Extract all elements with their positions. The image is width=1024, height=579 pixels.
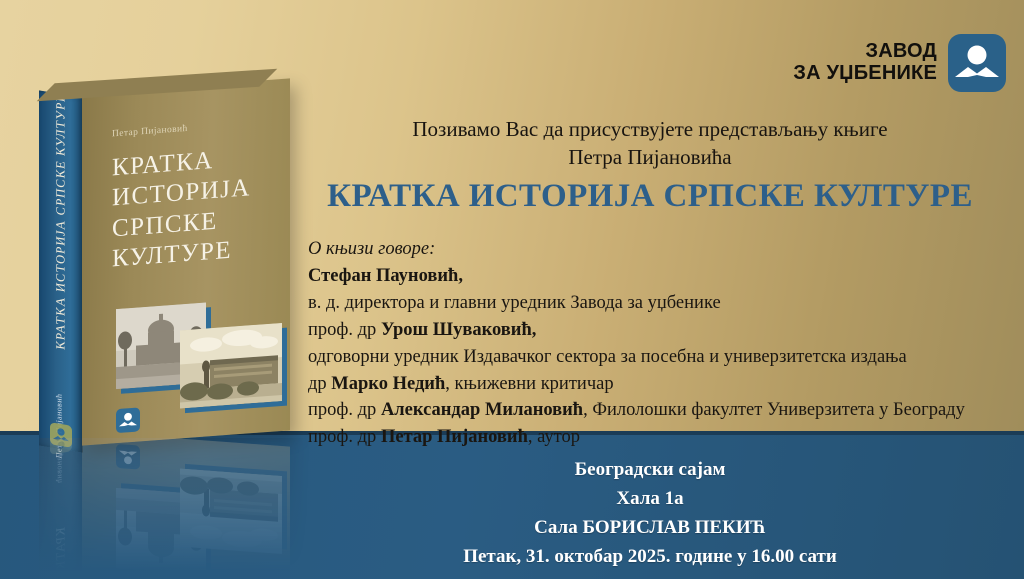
invitation-text: Позивамо Вас да присуствујете представља… [300,116,1000,172]
speaker-name-1: Стефан Пауновић, [308,266,463,286]
venue-line-3: Сала БОРИСЛАВ ПЕКИЋ [300,513,1000,542]
speaker-name-5: Марко Недић [331,374,445,394]
speaker-name-7: Петар Пијановић [381,427,528,447]
book-spine-title: КРАТКА ИСТОРИЈА СРПСКЕ КУЛТУРЕ [54,88,69,350]
book-spine-logo-icon [50,438,72,455]
venue-line-1: Београдски сајам [300,455,1000,484]
book-reflection: КРАТКА ИСТОРИЈА СРПСКЕ КУЛТУРЕ Петар Пиј… [20,438,320,579]
speaker-role-7: , аутор [528,427,580,447]
speaker-line-7: проф. др Петар Пијановић, аутор [308,424,998,451]
speaker-line-3: проф. др Урош Шуваковић, [308,317,998,344]
book-front-title: КРАТКА ИСТОРИЈА СРПСКЕ КУЛТУРЕ [112,143,251,274]
book-front-cover: Петар Пијановић КРАТКА ИСТОРИЈА СРПСКЕ К… [82,438,290,579]
speaker-line-1: Стефан Пауновић, [308,263,998,290]
book-front-author: Петар Пијановић [112,124,188,140]
book-front-logo-icon [116,444,140,470]
page-title: КРАТКА ИСТОРИЈА СРПСКЕ КУЛТУРЕ [300,178,1000,215]
venue-block: Београдски сајам Хала 1а Сала БОРИСЛАВ П… [300,455,1000,571]
speaker-line-4: одговорни уредник Издавачког сектора за … [308,344,998,371]
speaker-line-5: др Марко Недић, књижевни критичар [308,371,998,398]
speaker-name-3: Урош Шуваковић, [381,320,536,340]
national-building-photo [180,323,282,408]
book-front-cover: Петар Пијановић КРАТКА ИСТОРИЈА СРПСКЕ К… [82,78,290,445]
publisher-logo-text: ЗАВОД ЗА УЏБЕНИКЕ [793,41,937,84]
venue-line-2: Хала 1а [300,484,1000,513]
poster-canvas: ЗАВОД ЗА УЏБЕНИКЕ Позивамо Вас да присус… [0,0,1024,579]
publisher-logo: ЗАВОД ЗА УЏБЕНИКЕ [793,34,1006,92]
speakers-block: О књизи говоре: Стефан Пауновић, в. д. д… [308,236,998,451]
publisher-logo-line1: ЗАВОД [793,41,937,63]
invitation-line-2: Петра Пијановића [300,144,1000,172]
book-front-logo-icon [116,407,140,433]
publisher-logo-line2: ЗА УЏБЕНИКЕ [793,63,937,85]
book-spine: КРАТКА ИСТОРИЈА СРПСКЕ КУЛТУРЕ Петар Пиј… [39,90,83,452]
speaker-prefix-6: проф. др [308,400,381,420]
venue-line-4: Петак, 31. октобар 2025. године у 16.00 … [300,542,1000,571]
invitation-line-1: Позивамо Вас да присуствујете представља… [300,116,1000,144]
speaker-role-6: , Филолошки факултет Универзитета у Беог… [583,400,965,420]
speaker-prefix-5: др [308,374,331,394]
speaker-line-6: проф. др Александар Милановић, Филолошки… [308,397,998,424]
book-spine: КРАТКА ИСТОРИЈА СРПСКЕ КУЛТУРЕ Петар Пиј… [39,438,83,579]
speaker-role-5: , књижевни критичар [445,374,613,394]
speaker-name-6: Александар Милановић [381,400,583,420]
speaker-line-2: в. д. директора и главни уредник Завода … [308,290,998,317]
speaker-prefix-3: проф. др [308,320,381,340]
reader-book-icon [948,34,1006,92]
national-building-photo [180,469,282,554]
speakers-lead: О књизи говоре: [308,236,998,263]
